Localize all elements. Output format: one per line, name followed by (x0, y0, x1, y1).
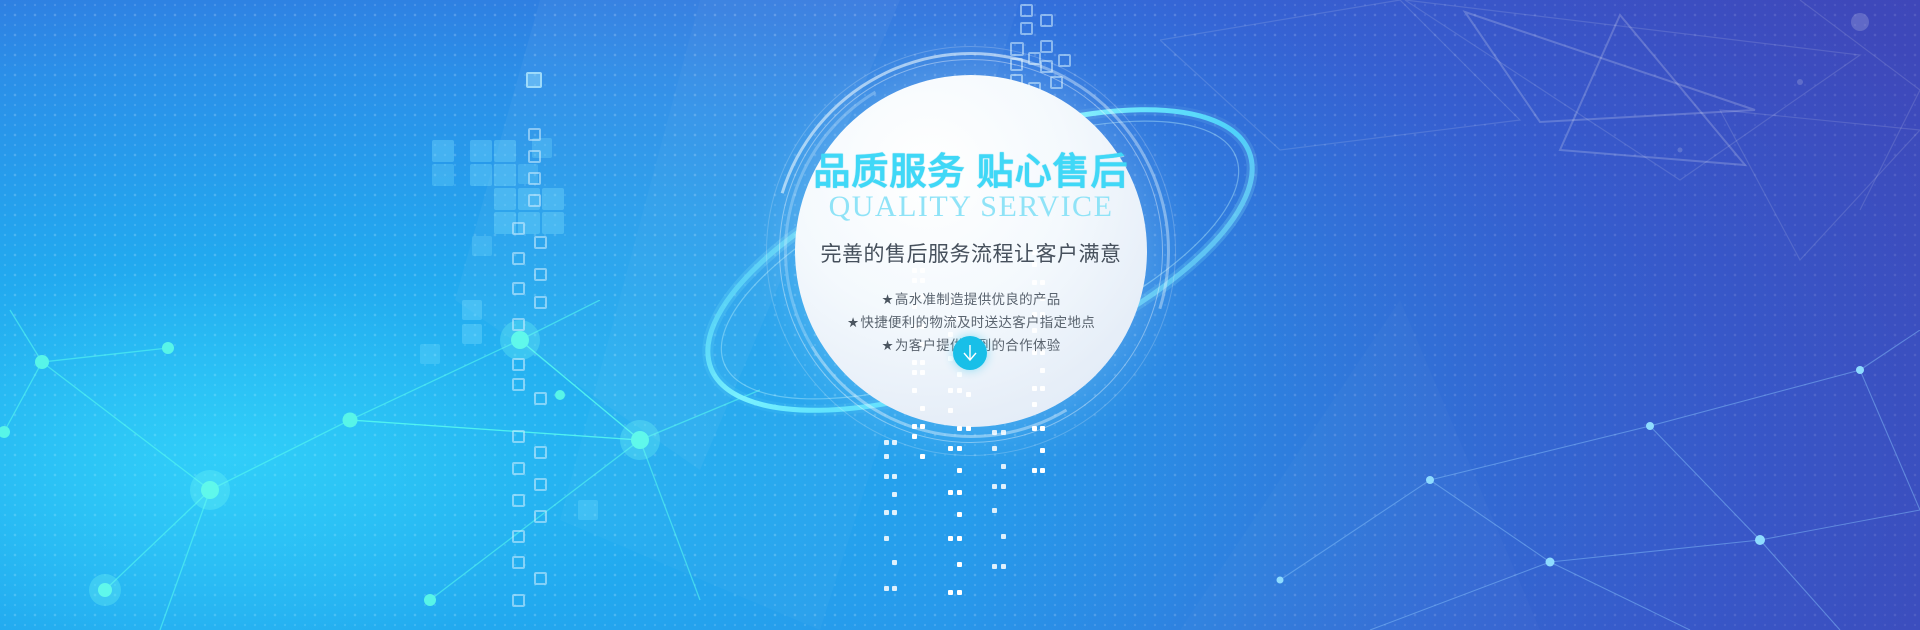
star-icon: ★ (881, 338, 893, 353)
list-item: ★快捷便利的物流及时送达客户指定地点 (847, 311, 1095, 334)
square-mosaic-icon (432, 118, 552, 278)
list-item-label: 高水准制造提供优良的产品 (895, 292, 1061, 307)
scroll-down-button[interactable] (953, 336, 987, 370)
square-mosaic-lower-icon (462, 300, 552, 430)
arrow-down-icon (961, 343, 979, 363)
star-icon: ★ (881, 292, 893, 307)
list-item: ★高水准制造提供优良的产品 (847, 288, 1095, 311)
hero-banner: 品质服务 贴心售后 QUALITY SERVICE 完善的售后服务流程让客户满意… (0, 0, 1920, 630)
node-network-right-icon (1220, 330, 1920, 630)
page-title-english: QUALITY SERVICE (829, 192, 1114, 222)
hero-text-block: 品质服务 贴心售后 QUALITY SERVICE 完善的售后服务流程让客户满意… (795, 75, 1147, 427)
page-title: 品质服务 贴心售后 (813, 153, 1128, 190)
node-network-left-icon (0, 300, 760, 630)
star-icon: ★ (847, 315, 859, 330)
page-subtitle: 完善的售后服务流程让客户满意 (821, 238, 1122, 268)
list-item-label: 快捷便利的物流及时送达客户指定地点 (860, 315, 1095, 330)
